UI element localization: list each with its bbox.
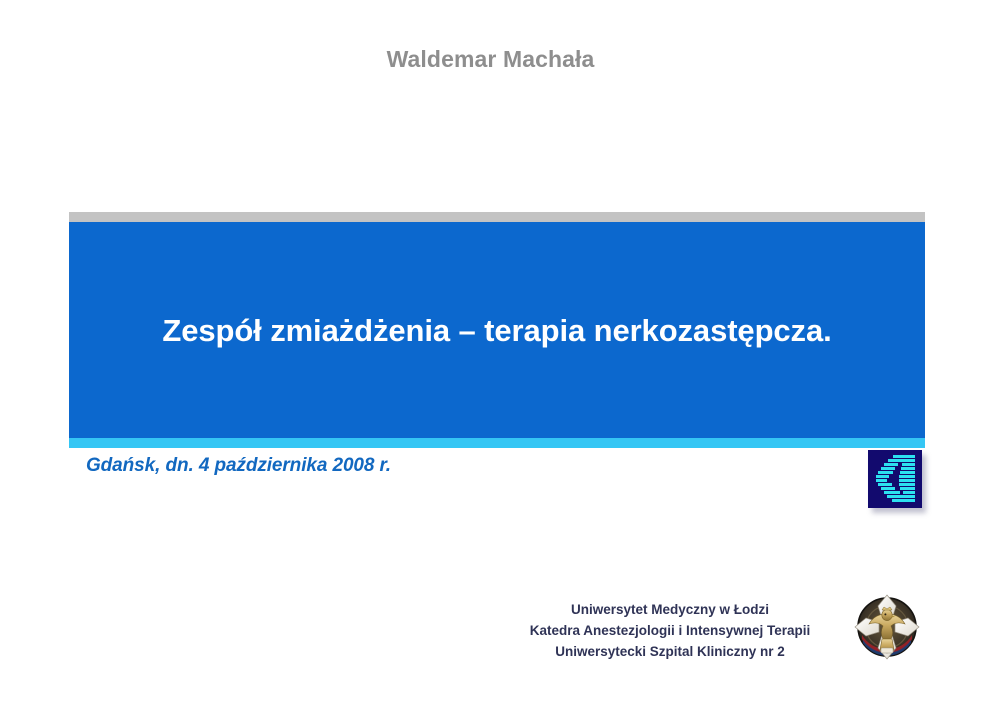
presenter-name: Waldemar Machała bbox=[0, 46, 992, 73]
footer-line-hospital: Uniwersytecki Szpital Kliniczny nr 2 bbox=[500, 642, 840, 663]
title-banner: Zespół zmiażdżenia – terapia nerkozastęp… bbox=[69, 212, 925, 448]
banner-bottom-cyan-bar bbox=[69, 438, 925, 448]
banner-blue-body: Zespół zmiażdżenia – terapia nerkozastęp… bbox=[69, 222, 925, 438]
eagle-cross-emblem-icon bbox=[851, 591, 923, 663]
institution-footer: Uniwersytet Medyczny w Łodzi Katedra Ane… bbox=[500, 600, 840, 663]
footer-line-department: Katedra Anestezjologii i Intensywnej Ter… bbox=[500, 621, 840, 642]
presentation-slide: Waldemar Machała Zespół zmiażdżenia – te… bbox=[0, 0, 992, 701]
banner-top-gray-bar bbox=[69, 212, 925, 222]
slide-title: Zespół zmiażdżenia – terapia nerkozastęp… bbox=[144, 312, 849, 349]
footer-line-university: Uniwersytet Medyczny w Łodzi bbox=[500, 600, 840, 621]
date-location-line: Gdańsk, dn. 4 października 2008 r. bbox=[86, 455, 391, 477]
striped-square-logo-icon bbox=[868, 450, 922, 508]
